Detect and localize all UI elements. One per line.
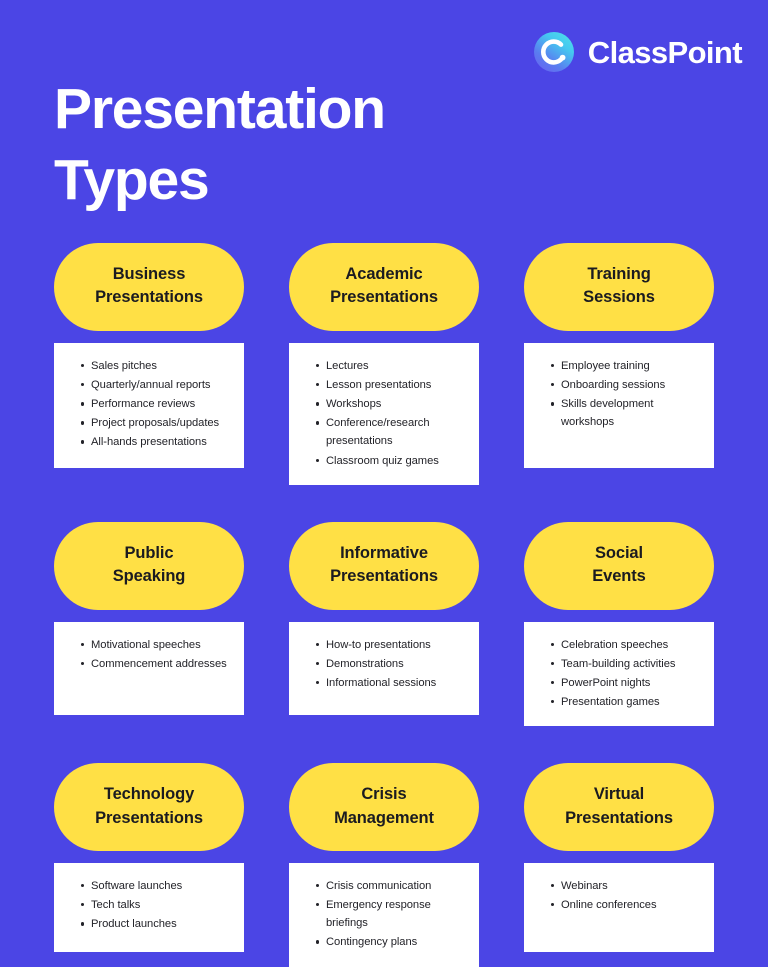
list-item: Webinars: [551, 877, 703, 895]
list-item: Sales pitches: [81, 357, 233, 375]
list-item: Informational sessions: [316, 674, 468, 692]
card-title: Crisis Management: [289, 763, 479, 851]
list-item: Crisis communication: [316, 877, 468, 895]
card-academic-presentations: Academic Presentations Lectures Lesson p…: [289, 243, 479, 485]
list-item: Onboarding sessions: [551, 376, 703, 394]
list-item: Contingency plans: [316, 933, 468, 951]
card-informative-presentations: Informative Presentations How-to present…: [289, 522, 479, 726]
presentation-type-grid: Business Presentations Sales pitches Qua…: [54, 243, 714, 967]
card-body: Employee training Onboarding sessions Sk…: [524, 343, 714, 468]
card-public-speaking: Public Speaking Motivational speeches Co…: [54, 522, 244, 726]
card-training-sessions: Training Sessions Employee training Onbo…: [524, 243, 714, 485]
card-technology-presentations: Technology Presentations Software launch…: [54, 763, 244, 966]
list-item: Motivational speeches: [81, 636, 233, 654]
card-item-list: Lectures Lesson presentations Workshops …: [298, 357, 468, 470]
card-item-list: Celebration speeches Team-building activ…: [533, 636, 703, 712]
list-item: Commencement addresses: [81, 655, 233, 673]
card-body: Software launches Tech talks Product lau…: [54, 863, 244, 952]
list-item: Team-building activities: [551, 655, 703, 673]
list-item: Performance reviews: [81, 395, 233, 413]
list-item: Presentation games: [551, 693, 703, 711]
card-title: Technology Presentations: [54, 763, 244, 851]
list-item: Demonstrations: [316, 655, 468, 673]
card-item-list: Software launches Tech talks Product lau…: [63, 877, 233, 933]
classpoint-logo-icon: [534, 32, 574, 72]
list-item: Celebration speeches: [551, 636, 703, 654]
card-title: Academic Presentations: [289, 243, 479, 331]
list-item: Lectures: [316, 357, 468, 375]
card-item-list: Motivational speeches Commencement addre…: [63, 636, 233, 673]
card-body: Motivational speeches Commencement addre…: [54, 622, 244, 715]
list-item: All-hands presentations: [81, 433, 233, 451]
list-item: How-to presentations: [316, 636, 468, 654]
card-item-list: Crisis communication Emergency response …: [298, 877, 468, 952]
list-item: Emergency response briefings: [316, 896, 468, 932]
card-body: Sales pitches Quarterly/annual reports P…: [54, 343, 244, 468]
card-body: Celebration speeches Team-building activ…: [524, 622, 714, 727]
page-title: Presentation Types: [54, 74, 524, 215]
list-item: Employee training: [551, 357, 703, 375]
card-title: Training Sessions: [524, 243, 714, 331]
list-item: Tech talks: [81, 896, 233, 914]
card-title: Virtual Presentations: [524, 763, 714, 851]
list-item: Product launches: [81, 915, 233, 933]
brand-logo: ClassPoint: [534, 32, 742, 72]
card-item-list: Sales pitches Quarterly/annual reports P…: [63, 357, 233, 452]
list-item: Classroom quiz games: [316, 452, 468, 470]
card-crisis-management: Crisis Management Crisis communication E…: [289, 763, 479, 966]
card-virtual-presentations: Virtual Presentations Webinars Online co…: [524, 763, 714, 966]
card-title: Social Events: [524, 522, 714, 610]
list-item: Project proposals/updates: [81, 414, 233, 432]
card-item-list: Webinars Online conferences: [533, 877, 703, 914]
brand-name: ClassPoint: [588, 37, 742, 68]
card-body: How-to presentations Demonstrations Info…: [289, 622, 479, 715]
card-item-list: How-to presentations Demonstrations Info…: [298, 636, 468, 692]
list-item: Skills development workshops: [551, 395, 703, 431]
list-item: Software launches: [81, 877, 233, 895]
list-item: Lesson presentations: [316, 376, 468, 394]
card-body: Lectures Lesson presentations Workshops …: [289, 343, 479, 485]
card-title: Public Speaking: [54, 522, 244, 610]
list-item: PowerPoint nights: [551, 674, 703, 692]
card-social-events: Social Events Celebration speeches Team-…: [524, 522, 714, 726]
list-item: Workshops: [316, 395, 468, 413]
card-body: Webinars Online conferences: [524, 863, 714, 952]
card-business-presentations: Business Presentations Sales pitches Qua…: [54, 243, 244, 485]
infographic-page: ClassPoint Presentation Types Business P…: [0, 0, 768, 960]
card-item-list: Employee training Onboarding sessions Sk…: [533, 357, 703, 432]
list-item: Conference/research presentations: [316, 414, 468, 450]
card-title: Business Presentations: [54, 243, 244, 331]
card-body: Crisis communication Emergency response …: [289, 863, 479, 967]
list-item: Quarterly/annual reports: [81, 376, 233, 394]
card-title: Informative Presentations: [289, 522, 479, 610]
list-item: Online conferences: [551, 896, 703, 914]
